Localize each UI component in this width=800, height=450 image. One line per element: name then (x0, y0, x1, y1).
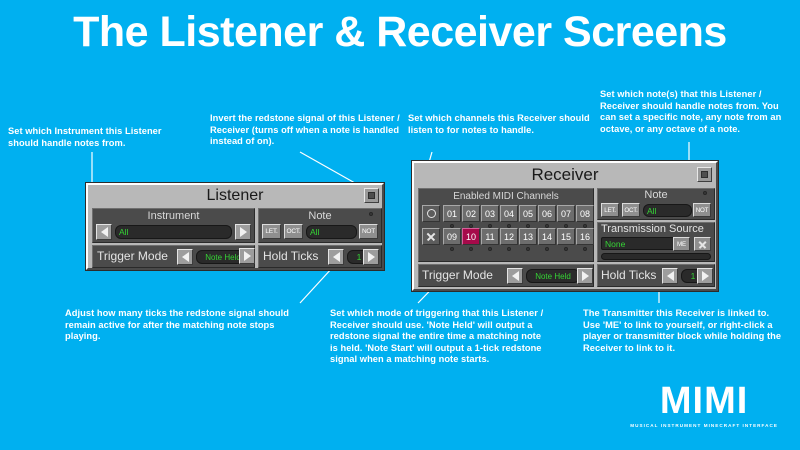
receiver-transmission-source-label: Transmission Source (601, 223, 704, 235)
receiver-transmission-source-clear-button[interactable] (694, 237, 711, 251)
cross-icon (426, 232, 436, 242)
listener-note-not-button[interactable]: NOT (359, 224, 378, 239)
listener-trigger-mode-label: Trigger Mode (97, 249, 168, 263)
receiver-note-not-button[interactable]: NOT (693, 203, 711, 217)
receiver-hold-ticks-prev-button[interactable] (662, 268, 678, 284)
receiver-trigger-mode-value[interactable]: Note Held (526, 269, 580, 283)
receiver-hold-ticks-group: Hold Ticks 1 (597, 264, 715, 287)
channel-cell-02[interactable]: 02 (462, 205, 480, 222)
listener-instrument-prev-button[interactable] (96, 224, 112, 240)
receiver-title: Receiver (414, 163, 716, 187)
circle-icon (427, 209, 436, 218)
channel-cell-09[interactable]: 09 (443, 228, 461, 245)
channel-dot-10 (469, 247, 473, 251)
receiver-transmission-source-group: Transmission Source None ME (597, 222, 715, 262)
slide-root: The Listener & Receiver Screens Set whic… (0, 0, 800, 450)
receiver-channels-group: Enabled MIDI Channels 01 02 03 04 05 06 … (418, 188, 594, 262)
mimi-logo-wordmark: MIMI (630, 382, 778, 420)
receiver-close-button[interactable] (697, 167, 712, 182)
listener-hold-ticks-prev-button[interactable] (328, 249, 344, 265)
channel-cell-07[interactable]: 07 (557, 205, 575, 222)
channel-dot-16 (583, 247, 587, 251)
listener-instrument-next-button[interactable] (235, 224, 251, 240)
receiver-channels-select-none-button[interactable] (422, 228, 440, 245)
listener-panel: Listener Instrument All Note LET. OCT. A… (86, 183, 384, 270)
annotation-instrument: Set which Instrument this Listener shoul… (8, 126, 193, 149)
listener-trigger-mode-next-button[interactable] (239, 248, 255, 264)
receiver-transmission-source-slot (601, 253, 711, 260)
channel-cell-06[interactable]: 06 (538, 205, 556, 222)
listener-note-letter-button[interactable]: LET. (262, 224, 281, 239)
receiver-note-octave-button[interactable]: OCT. (622, 203, 640, 217)
cross-icon (698, 240, 707, 249)
listener-titlebar: Listener (88, 185, 382, 207)
annotation-notes: Set which note(s) that this Listener / R… (600, 89, 796, 135)
channel-dot-12 (507, 247, 511, 251)
listener-close-button[interactable] (364, 188, 379, 203)
listener-hold-ticks-next-button[interactable] (363, 249, 379, 265)
receiver-channels-label: Enabled MIDI Channels (419, 190, 593, 203)
annotation-transmission-source: The Transmitter this Receiver is linked … (583, 308, 788, 354)
receiver-note-label: Note (598, 189, 714, 202)
receiver-trigger-mode-group: Trigger Mode Note Held (418, 264, 594, 287)
channel-cell-10[interactable]: 10 (462, 228, 480, 245)
receiver-trigger-mode-prev-button[interactable] (507, 268, 523, 284)
listener-trigger-mode-group: Trigger Mode Note Held (92, 245, 255, 268)
listener-note-group: Note LET. OCT. All NOT (258, 208, 382, 243)
receiver-hold-ticks-label: Hold Ticks (601, 268, 656, 282)
listener-instrument-group: Instrument All (92, 208, 255, 243)
listener-note-octave-button[interactable]: OCT. (284, 224, 303, 239)
receiver-trigger-mode-label: Trigger Mode (422, 268, 493, 282)
listener-hold-ticks-group: Hold Ticks 1 (258, 245, 382, 268)
listener-hold-ticks-label: Hold Ticks (263, 249, 318, 263)
receiver-trigger-mode-next-button[interactable] (577, 268, 593, 284)
receiver-panel: Receiver Enabled MIDI Channels 01 02 03 … (412, 161, 718, 291)
channel-cell-08[interactable]: 08 (576, 205, 594, 222)
listener-title: Listener (88, 185, 382, 207)
receiver-transmission-source-me-button[interactable]: ME (673, 237, 690, 251)
listener-instrument-value[interactable]: All (115, 225, 232, 239)
receiver-titlebar: Receiver (414, 163, 716, 187)
channel-cell-13[interactable]: 13 (519, 228, 537, 245)
mimi-logo: MIMI MUSICAL INSTRUMENT MINECRAFT INTERF… (630, 382, 778, 428)
channel-dot-14 (545, 247, 549, 251)
receiver-note-group: Note LET. OCT. All NOT (597, 188, 715, 220)
channel-dot-13 (526, 247, 530, 251)
channel-cell-14[interactable]: 14 (538, 228, 556, 245)
channel-dot-11 (488, 247, 492, 251)
channel-cell-01[interactable]: 01 (443, 205, 461, 222)
listener-instrument-label: Instrument (93, 210, 254, 223)
annotation-trigger-mode: Set which mode of triggering that this L… (330, 308, 545, 366)
annotation-hold-ticks: Adjust how many ticks the redstone signa… (65, 308, 310, 343)
channel-cell-15[interactable]: 15 (557, 228, 575, 245)
channel-dot-15 (564, 247, 568, 251)
listener-note-value[interactable]: All (306, 225, 357, 239)
listener-note-indicator-dot (369, 212, 373, 216)
receiver-note-indicator-dot (703, 191, 707, 195)
mimi-logo-tagline: MUSICAL INSTRUMENT MINECRAFT INTERFACE (630, 423, 778, 428)
listener-trigger-mode-prev-button[interactable] (177, 249, 193, 265)
receiver-channels-select-all-button[interactable] (422, 205, 440, 222)
channel-cell-05[interactable]: 05 (519, 205, 537, 222)
annotation-invert: Invert the redstone signal of this Liste… (210, 113, 405, 148)
page-title: The Listener & Receiver Screens (0, 8, 800, 57)
receiver-note-letter-button[interactable]: LET. (601, 203, 619, 217)
channel-cell-12[interactable]: 12 (500, 228, 518, 245)
listener-note-label: Note (259, 210, 381, 223)
channel-cell-11[interactable]: 11 (481, 228, 499, 245)
channel-dot-09 (450, 247, 454, 251)
channel-cell-16[interactable]: 16 (576, 228, 594, 245)
receiver-hold-ticks-next-button[interactable] (697, 268, 713, 284)
channel-cell-04[interactable]: 04 (500, 205, 518, 222)
receiver-note-value[interactable]: All (643, 204, 692, 217)
channel-cell-03[interactable]: 03 (481, 205, 499, 222)
annotation-channels: Set which channels this Receiver should … (408, 113, 593, 136)
